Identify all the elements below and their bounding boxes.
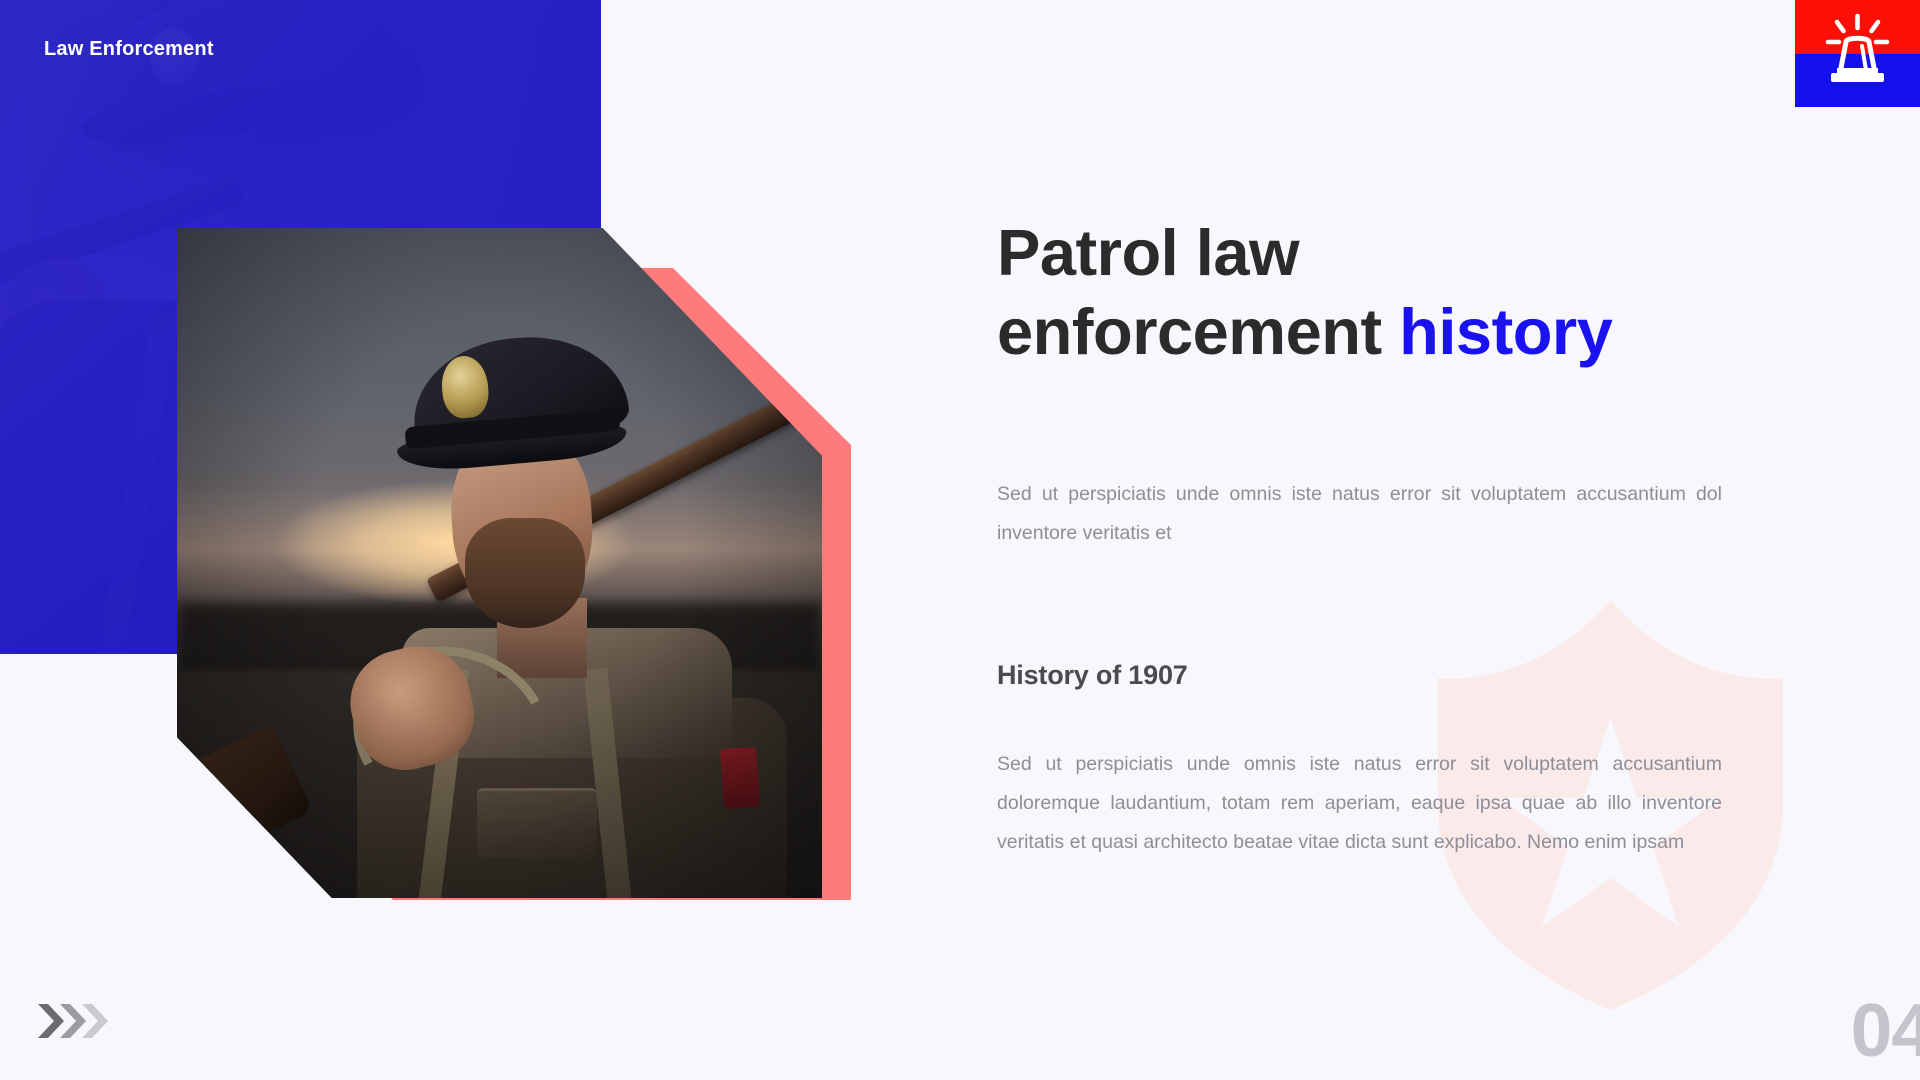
police-siren-icon (1795, 0, 1920, 107)
section-subheading: History of 1907 (997, 660, 1188, 691)
page-number: 04 (1851, 993, 1920, 1068)
triple-chevron-right-icon[interactable] (36, 1000, 110, 1042)
content-column: Patrol lawenforcement history Sed ut per… (997, 0, 1757, 1080)
intro-paragraph: Sed ut perspiciatis unde omnis iste natu… (997, 475, 1722, 553)
page-title: Patrol lawenforcement history (997, 213, 1767, 372)
headline-line-1: Patrol law (997, 216, 1299, 289)
police-siren-badge (1795, 0, 1920, 107)
headline-accent-word: history (1399, 295, 1612, 368)
detail-paragraph: Sed ut perspiciatis unde omnis iste natu… (997, 745, 1722, 862)
eyebrow-label: Law Enforcement (44, 38, 214, 61)
headline-line-2-plain: enforcement (997, 295, 1399, 368)
slide-root: Law Enforcement (0, 0, 1920, 1080)
